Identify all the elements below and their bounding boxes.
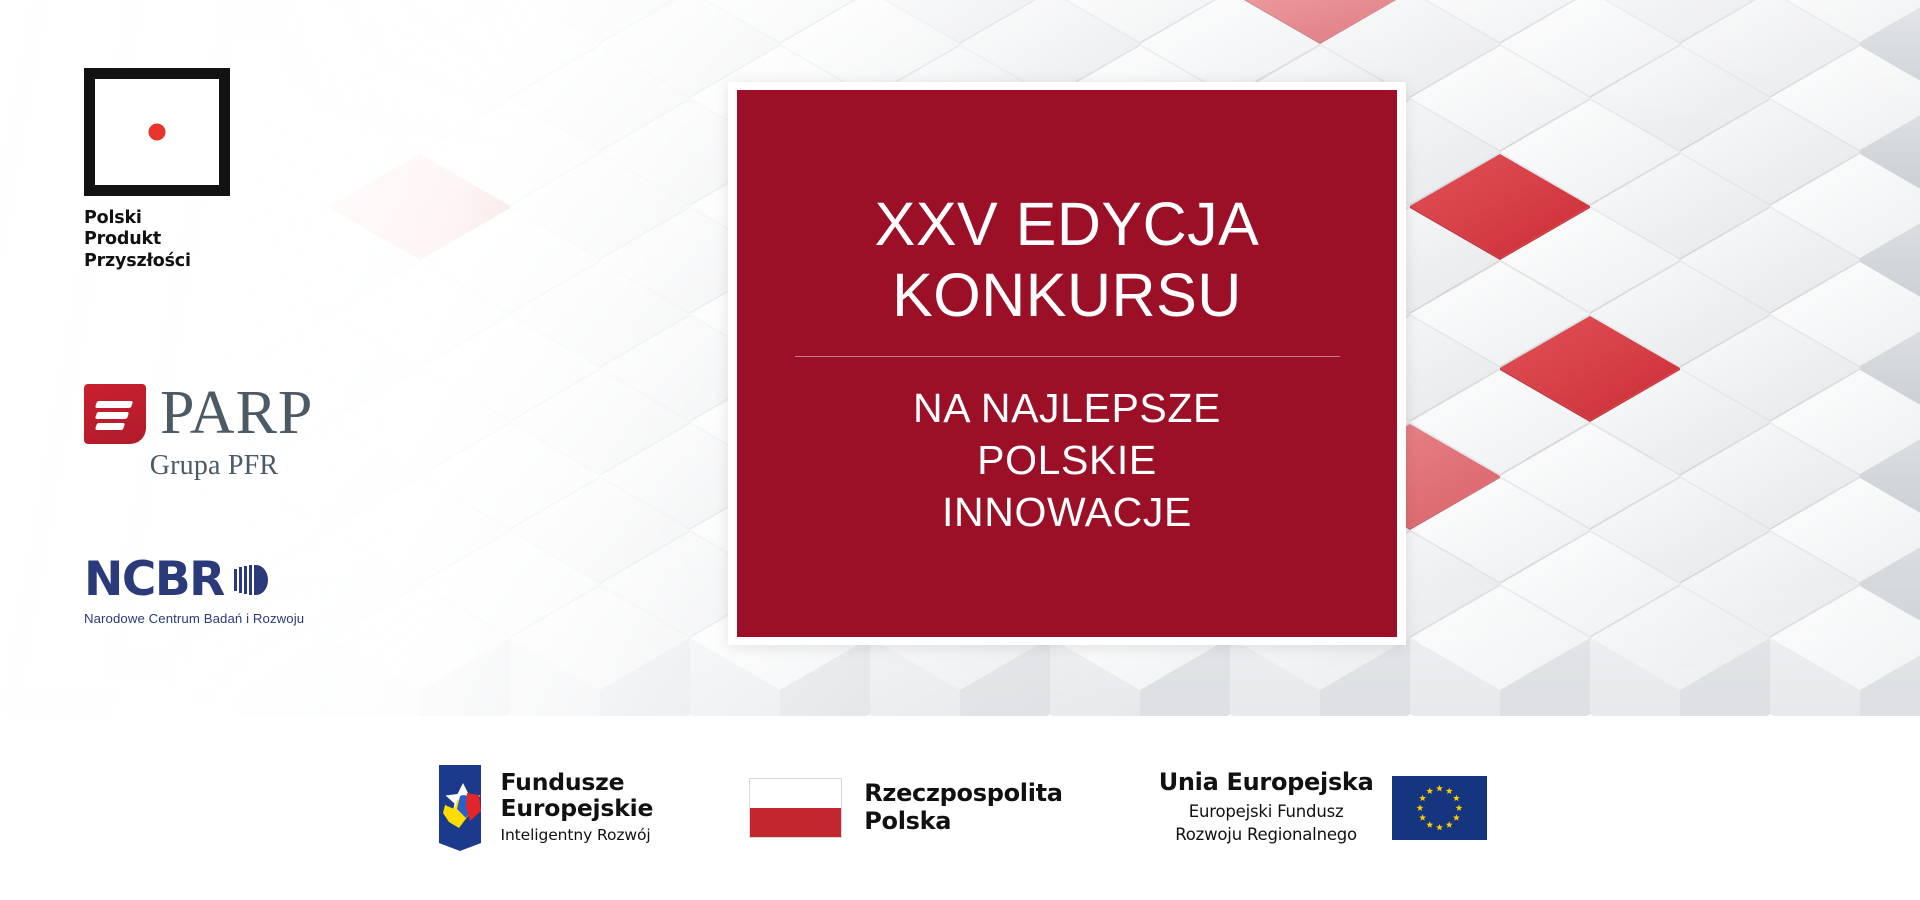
hero-card: XXV EDYCJA KONKURSU NA NAJLEPSZE POLSKIE… — [737, 90, 1397, 637]
ncbr-bars-icon — [234, 565, 268, 595]
ncbr-row: NCBR — [84, 556, 384, 603]
ncbr-subtitle: Narodowe Centrum Badań i Rozwoju — [84, 611, 384, 626]
parp-row: PARP — [84, 384, 344, 444]
ppp-square-icon — [84, 68, 230, 196]
ppp-line-2: Produkt — [84, 229, 304, 250]
poster-root: Polski Produkt Przyszłości PARP Grupa PF… — [0, 0, 1920, 900]
hero-subtitle-line-1: NA NAJLEPSZE — [913, 385, 1221, 431]
ncbr-wordmark: NCBR — [84, 556, 224, 603]
hero-title: XXV EDYCJA KONKURSU — [845, 189, 1290, 331]
ppp-line-3: Przyszłości — [84, 251, 304, 272]
ppp-red-dot-icon — [149, 124, 166, 141]
eu-flag-icon — [1392, 776, 1487, 840]
funding-logo-strip: Fundusze Europejskie Inteligentny Rozwój… — [0, 716, 1920, 900]
ue-line-3: Rozwoju Regionalnego — [1159, 823, 1374, 846]
logo-fundusze-europejskie: Fundusze Europejskie Inteligentny Rozwój — [433, 765, 653, 851]
unia-europejska-text: Unia Europejska Europejski Fundusz Rozwo… — [1159, 769, 1374, 846]
ue-line-1: Unia Europejska — [1159, 769, 1374, 796]
parp-emblem-icon — [84, 384, 146, 444]
ppp-wordmark: Polski Produkt Przyszłości — [84, 208, 304, 272]
logo-polski-produkt-przyszlosci: Polski Produkt Przyszłości — [84, 68, 304, 272]
hero-subtitle: NA NAJLEPSZE POLSKIE INNOWACJE — [873, 383, 1261, 538]
rp-line-2: Polska — [864, 808, 1062, 836]
hero-title-line-2: KONKURSU — [892, 261, 1242, 329]
parp-subtitle: Grupa PFR — [84, 450, 344, 482]
fe-line-3: Inteligentny Rozwój — [500, 824, 653, 847]
ppp-line-1: Polski — [84, 208, 304, 229]
hero-title-line-1: XXV EDYCJA — [875, 190, 1260, 258]
hero-subtitle-line-3: INNOWACJE — [942, 489, 1192, 535]
rzeczpospolita-text: Rzeczpospolita Polska — [864, 780, 1062, 836]
ue-line-2: Europejski Fundusz — [1159, 800, 1374, 823]
poland-flag-icon — [749, 778, 842, 838]
parp-wordmark: PARP — [160, 384, 313, 444]
hero-card-frame: XXV EDYCJA KONKURSU NA NAJLEPSZE POLSKIE… — [728, 82, 1406, 645]
hero-subtitle-line-2: POLSKIE — [977, 437, 1157, 483]
logo-unia-europejska: Unia Europejska Europejski Fundusz Rozwo… — [1159, 769, 1487, 846]
fundusze-europejskie-icon — [433, 765, 487, 851]
partner-logo-column: Polski Produkt Przyszłości PARP Grupa PF… — [0, 0, 400, 716]
logo-ncbr: NCBR Narodowe Centrum Badań i Rozwoju — [84, 556, 384, 626]
hero-divider — [795, 356, 1340, 357]
logo-rzeczpospolita-polska: Rzeczpospolita Polska — [749, 778, 1062, 838]
fe-line-2: Europejskie — [500, 795, 653, 822]
fe-line-1: Fundusze — [500, 769, 653, 796]
fundusze-europejskie-text: Fundusze Europejskie Inteligentny Rozwój — [500, 769, 653, 847]
rp-line-1: Rzeczpospolita — [864, 780, 1062, 808]
logo-parp: PARP Grupa PFR — [84, 384, 344, 482]
